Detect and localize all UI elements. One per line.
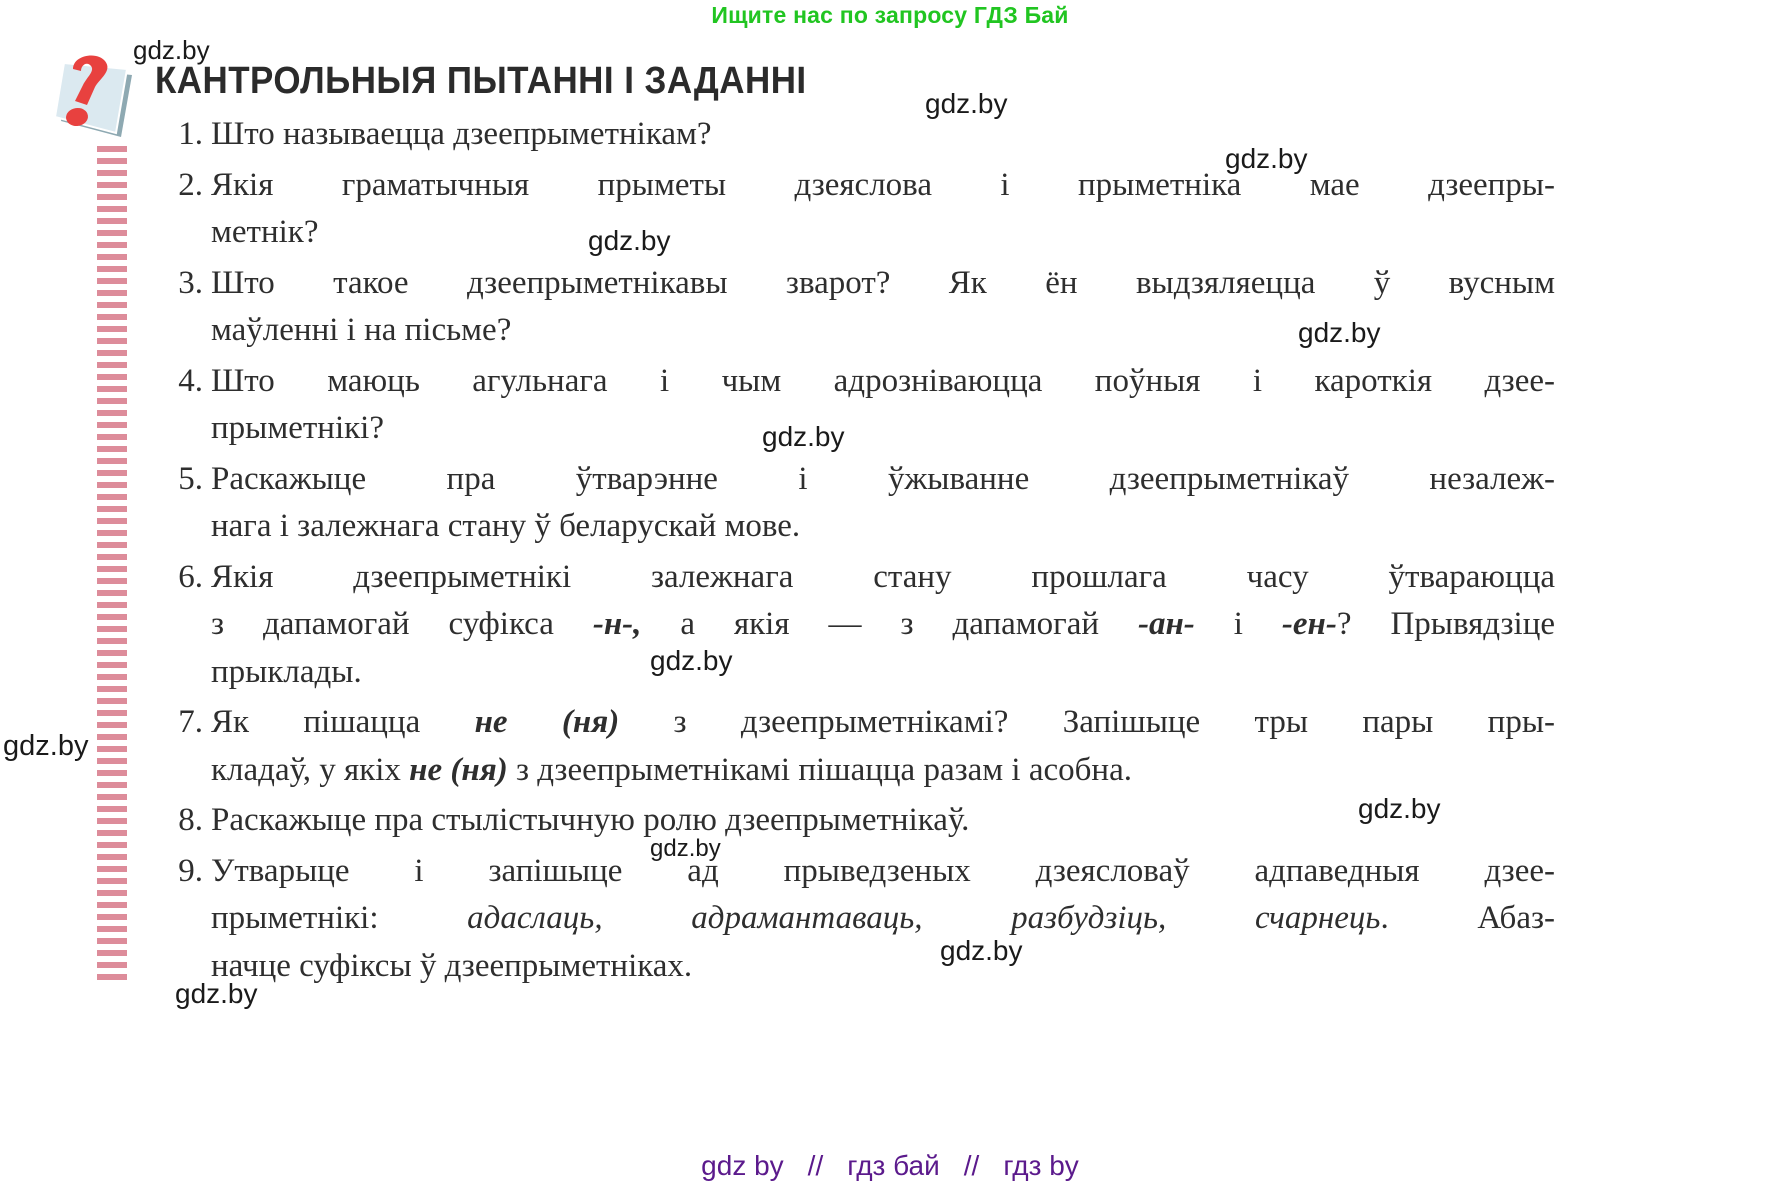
- question-line: Якія граматычныя прыметы дзеяслова і пры…: [211, 162, 1555, 210]
- question-item: Якія дзеепрыметнікі залежнага стану прош…: [155, 554, 1555, 697]
- footer-link[interactable]: гдз бай: [845, 1150, 942, 1181]
- plain-text: Якія дзеепрыметнікі залежнага стану прош…: [211, 559, 1555, 595]
- plain-text: прыклады.: [211, 654, 362, 690]
- question-item: Утварыце і запішыце ад прыведзеных дзеяс…: [155, 848, 1555, 991]
- watermark: gdz.by: [1298, 317, 1381, 349]
- plain-text: начце суфіксы ў дзеепрыметніках.: [211, 948, 692, 984]
- dashed-vertical-rule: [97, 146, 127, 986]
- plain-text: прыметнікі?: [211, 410, 384, 446]
- question-list: Што называецца дзеепрыметнікам?Якія грам…: [155, 111, 1555, 990]
- emphasis-bold-italic: не (ня): [409, 752, 508, 788]
- plain-text: Што маюць агульнага і чым адрозніваюцца …: [211, 363, 1555, 399]
- question-item: Раскажыце пра стылістычную ролю дзеепрым…: [155, 797, 1555, 845]
- emphasis-italic: адаслаць, адрамантаваць, разбудзіць, сча…: [467, 900, 1380, 936]
- watermark: gdz.by: [3, 730, 88, 763]
- question-line: Утварыце і запішыце ад прыведзеных дзеяс…: [211, 848, 1555, 896]
- plain-text: ? Прывядзіце: [1337, 606, 1555, 642]
- lesson-content: КАНТРОЛЬНЫЯ ПЫТАННІ І ЗАДАННІ Што называ…: [155, 60, 1555, 993]
- page-title: КАНТРОЛЬНЫЯ ПЫТАННІ І ЗАДАННІ: [155, 60, 1443, 103]
- question-item: Якія граматычныя прыметы дзеяслова і пры…: [155, 162, 1555, 257]
- watermark: gdz.by: [650, 835, 721, 863]
- watermark: gdz.by: [762, 421, 845, 453]
- plain-text: прыметнікі:: [211, 900, 467, 936]
- promo-banner: Ищите нас по запросу ГДЗ Бай: [0, 2, 1780, 29]
- question-mark-page-icon: [47, 45, 142, 150]
- question-item: Раскажыце пра ўтварэнне і ўжыванне дзееп…: [155, 456, 1555, 551]
- watermark: gdz.by: [588, 225, 671, 257]
- watermark: gdz.by: [925, 88, 1008, 120]
- watermark: gdz.by: [1358, 793, 1441, 825]
- question-line: прыметнікі?: [211, 405, 1555, 453]
- question-line: кладаў, у якіх не (ня) з дзеепрыметнікам…: [211, 747, 1555, 795]
- plain-text: Што такое дзеепрыметнікавы зварот? Як ён…: [211, 265, 1555, 301]
- plain-text: Як пішацца: [211, 704, 475, 740]
- footer-separator: //: [962, 1150, 982, 1181]
- plain-text: і: [1195, 606, 1282, 642]
- question-line: Што маюць агульнага і чым адрозніваюцца …: [211, 358, 1555, 406]
- question-line: Што такое дзеепрыметнікавы зварот? Як ён…: [211, 260, 1555, 308]
- question-line: Раскажыце пра стылістычную ролю дзеепрым…: [211, 797, 1555, 845]
- question-line: прыклады.: [211, 649, 1555, 697]
- watermark: gdz.by: [1225, 143, 1308, 175]
- plain-text: кладаў, у якіх: [211, 752, 409, 788]
- emphasis-bold-italic: не (ня): [475, 704, 620, 740]
- footer-link[interactable]: гдз by: [1001, 1150, 1080, 1181]
- watermark: gdz.by: [133, 35, 210, 66]
- question-line: начце суфіксы ў дзеепрыметніках.: [211, 943, 1555, 991]
- plain-text: . Абаз-: [1380, 900, 1555, 936]
- plain-text: Якія граматычныя прыметы дзеяслова і пры…: [211, 167, 1555, 203]
- plain-text: Раскажыце пра стылістычную ролю дзеепрым…: [211, 802, 969, 838]
- question-line: з дапамогай суфікса -н-, а якія — з дапа…: [211, 601, 1555, 649]
- plain-text: з дзеепрыметнікамі? Запішыце тры пары пр…: [619, 704, 1555, 740]
- footer-links: gdz by//гдз бай//гдз by: [0, 1150, 1780, 1182]
- plain-text: нага і залежнага стану ў беларускай мове…: [211, 508, 800, 544]
- question-item: Як пішацца не (ня) з дзеепрыметнікамі? З…: [155, 699, 1555, 794]
- emphasis-bold-italic: -ан-: [1138, 606, 1195, 642]
- emphasis-bold-italic: -н-,: [593, 606, 642, 642]
- plain-text: маўленні і на пісьме?: [211, 312, 511, 348]
- question-item: Што называецца дзеепрыметнікам?: [155, 111, 1555, 159]
- plain-text: Што называецца дзеепрыметнікам?: [211, 116, 712, 152]
- plain-text: а якія — з дапамогай: [641, 606, 1138, 642]
- plain-text: Раскажыце пра ўтварэнне і ўжыванне дзееп…: [211, 461, 1555, 497]
- watermark: gdz.by: [650, 645, 733, 677]
- watermark: gdz.by: [175, 978, 258, 1010]
- footer-separator: //: [806, 1150, 826, 1181]
- question-line: метнік?: [211, 209, 1555, 257]
- plain-text: метнік?: [211, 214, 318, 250]
- question-line: Раскажыце пра ўтварэнне і ўжыванне дзееп…: [211, 456, 1555, 504]
- question-line: Як пішацца не (ня) з дзеепрыметнікамі? З…: [211, 699, 1555, 747]
- plain-text: Утварыце і запішыце ад прыведзеных дзеяс…: [211, 853, 1555, 889]
- question-item: Што маюць агульнага і чым адрозніваюцца …: [155, 358, 1555, 453]
- question-line: нага і залежнага стану ў беларускай мове…: [211, 503, 1555, 551]
- emphasis-bold-italic: -ен-: [1282, 606, 1337, 642]
- watermark: gdz.by: [940, 935, 1023, 967]
- question-line: прыметнікі: адаслаць, адрамантаваць, раз…: [211, 895, 1555, 943]
- question-line: Што называецца дзеепрыметнікам?: [211, 111, 1555, 159]
- question-line: Якія дзеепрыметнікі залежнага стану прош…: [211, 554, 1555, 602]
- plain-text: з дапамогай суфікса: [211, 606, 593, 642]
- footer-link[interactable]: gdz by: [699, 1150, 786, 1181]
- plain-text: з дзеепрыметнікамі пішацца разам і асобн…: [508, 752, 1132, 788]
